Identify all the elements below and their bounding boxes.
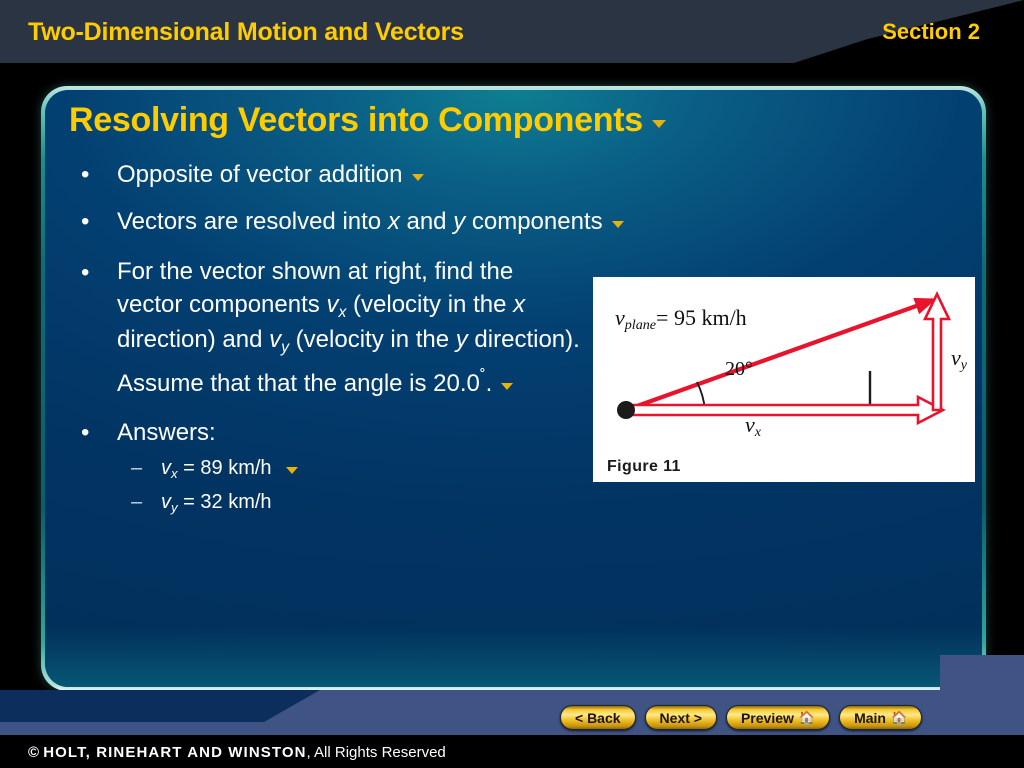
list-item: – vx = 89 km/h xyxy=(69,453,629,485)
bullet-list: • Opposite of vector addition • Vectors … xyxy=(69,158,629,519)
reveal-triangle-title[interactable] xyxy=(652,120,666,128)
content-panel: Resolving Vectors into Components • Oppo… xyxy=(41,86,986,691)
answer-vx: vx = 89 km/h xyxy=(161,457,272,479)
bullet-text-1: Opposite of vector addition xyxy=(117,161,403,188)
copyright-symbol: © xyxy=(28,744,39,761)
list-item: • Answers: xyxy=(69,416,629,449)
sub-dash: – xyxy=(131,453,142,484)
preview-button[interactable]: Preview 🏠 xyxy=(726,705,830,730)
back-button-label: < Back xyxy=(575,710,621,726)
x-component-arrow xyxy=(626,397,943,423)
figure-caption: Figure 11 xyxy=(607,458,681,476)
page-title-text: Resolving Vectors into Components xyxy=(69,101,643,139)
list-item: • Opposite of vector addition xyxy=(69,158,629,191)
main-button-label: Main xyxy=(854,710,886,726)
navigation-bar: < Back Next > Preview 🏠 Main 🏠 xyxy=(560,705,922,730)
back-button[interactable]: < Back xyxy=(560,705,636,730)
bullet-text-3: For the vector shown at right, find the … xyxy=(117,258,580,397)
origin-dot xyxy=(617,401,635,419)
footer-right-fill xyxy=(940,655,1024,693)
publisher-name: HOLT, RINEHART AND WINSTON xyxy=(43,744,306,761)
next-button[interactable]: Next > xyxy=(645,705,717,730)
chapter-title: Two-Dimensional Motion and Vectors xyxy=(28,18,464,47)
reveal-triangle-3[interactable] xyxy=(501,383,513,390)
slide-header: Two-Dimensional Motion and Vectors Secti… xyxy=(0,0,1024,63)
y-component-arrow xyxy=(925,294,949,410)
reveal-triangle-4[interactable] xyxy=(286,467,298,474)
copyright-notice: © HOLT, RINEHART AND WINSTON, All Rights… xyxy=(28,744,446,761)
preview-button-label: Preview xyxy=(741,710,794,726)
main-button[interactable]: Main 🏠 xyxy=(839,705,922,730)
bullet-dot: • xyxy=(81,158,89,191)
reveal-triangle-2[interactable] xyxy=(612,221,624,228)
figure-label-vplane: vplane= 95 km/h xyxy=(615,305,747,331)
list-item: • Vectors are resolved into x and y comp… xyxy=(69,205,629,238)
home-icon: 🏠 xyxy=(799,711,815,724)
reveal-triangle-1[interactable] xyxy=(412,174,424,181)
figure-label-vy: vy xyxy=(951,345,967,371)
home-icon: 🏠 xyxy=(891,711,907,724)
list-item: • For the vector shown at right, find th… xyxy=(69,256,584,400)
list-item: – vy = 32 km/h xyxy=(69,487,629,519)
bullet-text-2: Vectors are resolved into x and y compon… xyxy=(117,208,603,235)
content-panel-inner: Resolving Vectors into Components • Oppo… xyxy=(45,90,982,687)
figure-panel: vplane= 95 km/h 20° vy vx Figure 11 xyxy=(593,277,975,482)
section-label: Section 2 xyxy=(882,19,980,45)
slide-canvas: Two-Dimensional Motion and Vectors Secti… xyxy=(0,0,1024,768)
bullet-text-4: Answers: xyxy=(117,419,216,446)
bullet-dot: • xyxy=(81,256,89,289)
figure-label-angle: 20° xyxy=(725,358,753,381)
bullet-dot: • xyxy=(81,416,89,449)
sub-dash: – xyxy=(131,487,142,518)
answer-vy: vy = 32 km/h xyxy=(161,491,272,513)
rights-text: , All Rights Reserved xyxy=(307,744,446,761)
next-button-label: Next > xyxy=(660,710,702,726)
page-title: Resolving Vectors into Components xyxy=(69,101,666,140)
figure-label-vx: vx xyxy=(745,412,761,438)
bullet-dot: • xyxy=(81,205,89,238)
